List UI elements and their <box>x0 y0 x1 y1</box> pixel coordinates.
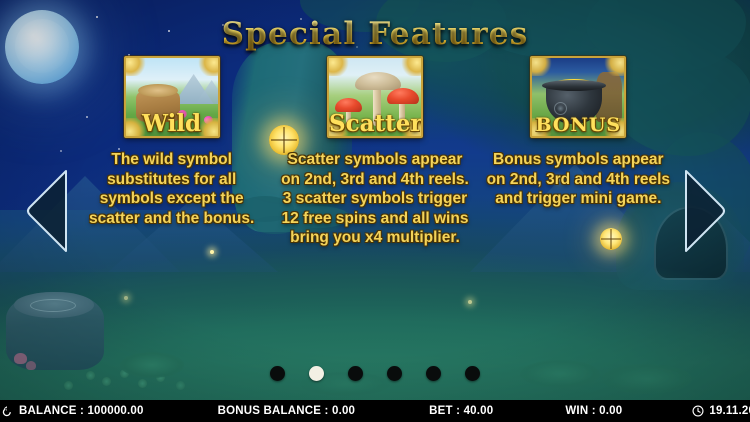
bet-label: BET : 40.00 <box>429 405 493 417</box>
bonus-balance-label: BONUS BALANCE : 0.00 <box>218 405 356 417</box>
next-page-button[interactable] <box>678 165 730 257</box>
scatter-description: Scatter symbols appear on 2nd, 3rd and 4… <box>280 150 470 248</box>
frame-corner-icon <box>604 58 624 76</box>
pagination-dot[interactable] <box>426 366 441 381</box>
pagination-dot[interactable] <box>348 366 363 381</box>
frame-corner-icon <box>126 58 146 76</box>
frame-corner-icon <box>198 58 218 76</box>
pot-rim <box>542 80 606 91</box>
feature-column-scatter: Scatter Scatter symbols appear on 2nd, 3… <box>273 56 476 356</box>
scatter-symbol-label: Scatter <box>329 112 421 136</box>
wild-symbol-label: Wild <box>126 112 218 136</box>
scatter-symbol-tile: Scatter <box>327 56 423 138</box>
bonus-symbol-tile: BONUS <box>530 56 626 138</box>
slot-game-paytable-screen: Special Features Wild The wild sym <box>0 0 750 422</box>
clock-group: 19.11.2020 15:44 <box>692 405 750 417</box>
frame-corner-icon <box>532 58 552 76</box>
right-triangle-icon <box>678 165 730 257</box>
feature-column-bonus: BONUS Bonus symbols appear on 2nd, 3rd a… <box>477 56 680 356</box>
page-title: Special Features <box>0 16 750 52</box>
bonus-symbol-label: BONUS <box>532 116 624 136</box>
balance-label: BALANCE : 100000.00 <box>19 405 144 417</box>
bonus-description: Bonus symbols appear on 2nd, 3rd and 4th… <box>483 150 673 209</box>
reload-icon <box>0 405 13 418</box>
wild-symbol-tile: Wild <box>124 56 220 138</box>
feature-column-wild: Wild The wild symbol substitutes for all… <box>70 56 273 356</box>
frame-corner-icon <box>329 58 349 76</box>
wild-description: The wild symbol substitutes for all symb… <box>77 150 267 228</box>
reload-button[interactable] <box>0 405 13 418</box>
status-bar: BALANCE : 100000.00 BONUS BALANCE : 0.00… <box>0 400 750 422</box>
pagination-dot[interactable] <box>387 366 402 381</box>
frame-corner-icon <box>401 58 421 76</box>
features-row: Wild The wild symbol substitutes for all… <box>70 56 680 356</box>
datetime-label: 19.11.2020 15:44 <box>709 405 750 417</box>
pagination-dot[interactable] <box>270 366 285 381</box>
pagination <box>0 366 750 381</box>
prev-page-button[interactable] <box>22 165 74 257</box>
pagination-dot[interactable] <box>465 366 480 381</box>
left-triangle-icon <box>22 165 74 257</box>
win-label: WIN : 0.00 <box>565 405 622 417</box>
pagination-dot[interactable] <box>309 366 324 381</box>
clock-icon <box>692 405 704 417</box>
